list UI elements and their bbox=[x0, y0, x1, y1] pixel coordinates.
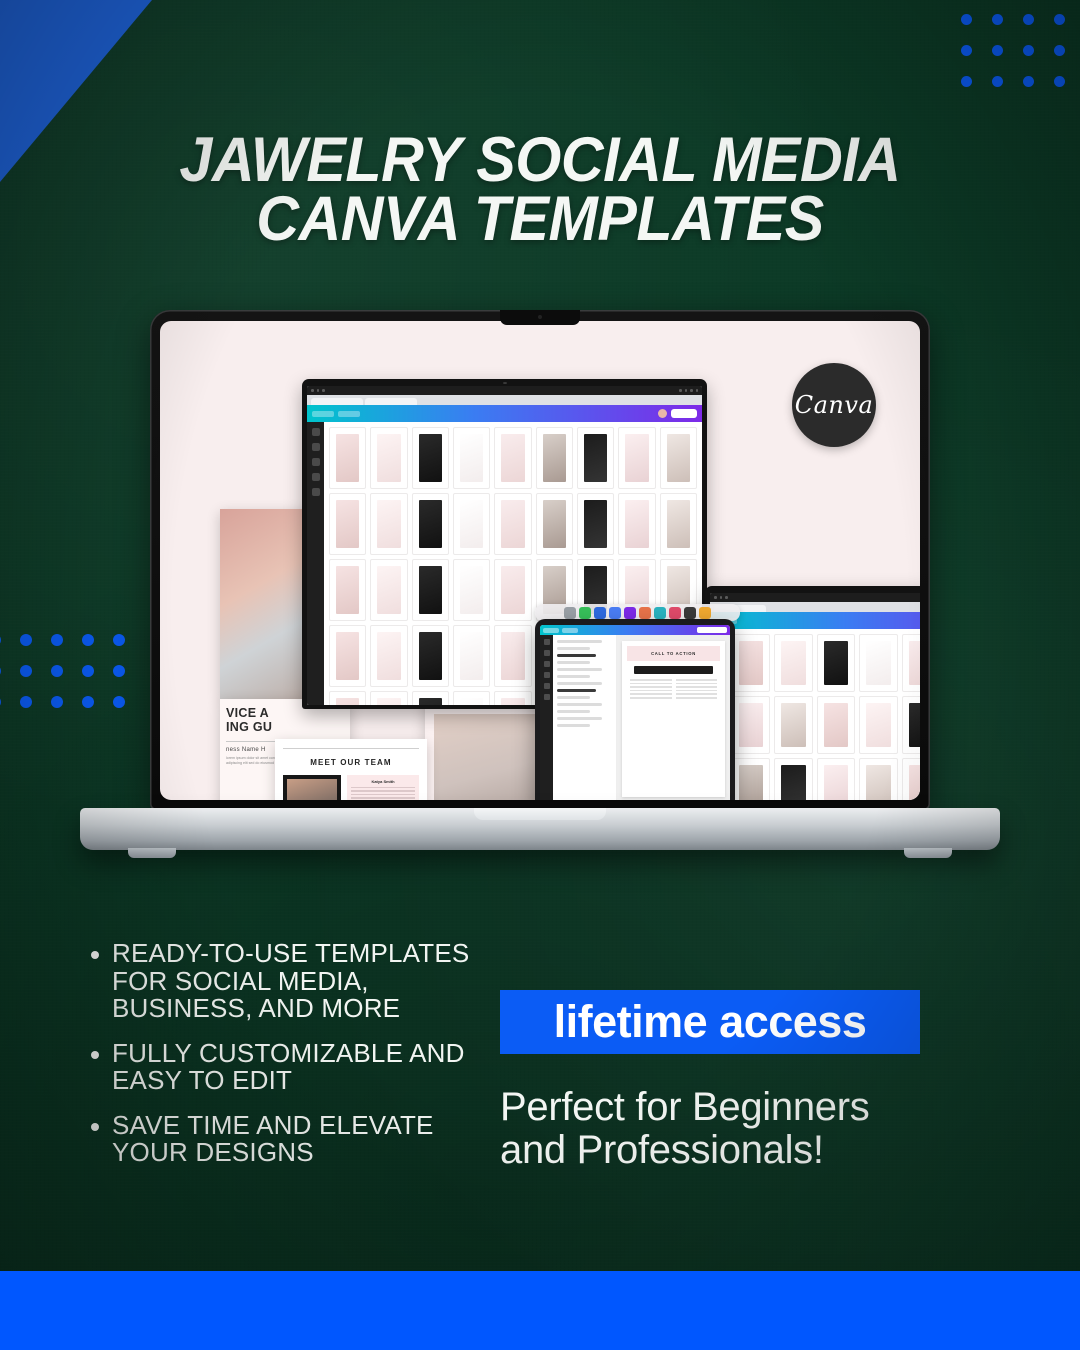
tablet-page: CALL TO ACTION bbox=[622, 641, 725, 797]
template-thumbnail bbox=[577, 427, 614, 489]
canva-window-secondary bbox=[710, 593, 920, 800]
thumbnail-preview bbox=[625, 434, 648, 482]
laptop-foot-left bbox=[128, 848, 176, 858]
template-thumbnail bbox=[494, 493, 531, 555]
thumbnail-preview bbox=[501, 632, 524, 680]
thumbnail-preview bbox=[667, 434, 690, 482]
decorative-dot bbox=[1054, 76, 1065, 87]
meet-team-card: MEET OUR TEAM Andres Doe Katya Smith bbox=[275, 739, 427, 800]
os-menu-bar bbox=[307, 386, 702, 395]
thumbnail-preview bbox=[377, 500, 400, 548]
thumbnail-preview bbox=[336, 632, 359, 680]
template-thumbnail bbox=[774, 634, 812, 692]
template-thumbnail bbox=[536, 493, 573, 555]
dock-app-icon bbox=[594, 607, 606, 619]
thumbnail-preview bbox=[909, 765, 920, 800]
decorative-dot bbox=[51, 665, 63, 677]
template-thumbnail bbox=[660, 427, 697, 489]
template-thumbnail bbox=[412, 625, 449, 687]
template-thumbnail bbox=[859, 634, 897, 692]
template-thumbnail bbox=[329, 427, 366, 489]
thumbnail-preview bbox=[419, 698, 442, 705]
dock-app-icon bbox=[624, 607, 636, 619]
canva-logo-text: Canva bbox=[795, 391, 874, 419]
service-card-heading-2: ING GU bbox=[226, 720, 344, 734]
team-card-columns: Andres Doe Katya Smith bbox=[283, 775, 419, 800]
thumbnail-preview bbox=[667, 500, 690, 548]
decorative-dot bbox=[51, 696, 63, 708]
dock-app-icon bbox=[579, 607, 591, 619]
decorative-dot bbox=[961, 76, 972, 87]
template-thumbnail bbox=[370, 625, 407, 687]
template-thumbnail bbox=[494, 427, 531, 489]
team-member-left: Andres Doe bbox=[283, 775, 341, 800]
decorative-dot bbox=[20, 665, 32, 677]
template-thumbnail bbox=[453, 493, 490, 555]
thumbnail-preview bbox=[866, 641, 890, 685]
thumbnail-preview bbox=[824, 641, 848, 685]
thumbnail-preview bbox=[781, 703, 805, 747]
thumbnail-preview bbox=[336, 500, 359, 548]
template-thumbnail bbox=[494, 625, 531, 687]
decorative-dot bbox=[992, 14, 1003, 25]
dock-app-icon bbox=[564, 607, 576, 619]
template-thumbnail bbox=[902, 696, 920, 754]
camera-notch-icon bbox=[500, 310, 580, 325]
cta-button bbox=[634, 666, 713, 674]
decorative-dot bbox=[0, 634, 1, 646]
thumbnail-preview bbox=[824, 765, 848, 800]
divider bbox=[283, 748, 419, 749]
thumbnail-preview bbox=[584, 500, 607, 548]
thumbnail-preview bbox=[377, 434, 400, 482]
thumbnail-preview bbox=[501, 698, 524, 705]
template-thumbnail bbox=[329, 691, 366, 705]
thumbnail-preview bbox=[460, 434, 483, 482]
template-thumbnail bbox=[412, 493, 449, 555]
bottom-accent-bar bbox=[0, 1271, 1080, 1350]
thumbnail-preview bbox=[377, 566, 400, 614]
laptop-foot-right bbox=[904, 848, 952, 858]
thumbnail-preview bbox=[543, 500, 566, 548]
thumbnail-preview bbox=[584, 434, 607, 482]
browser-tab-bar bbox=[710, 602, 920, 612]
cta-hero: CALL TO ACTION bbox=[627, 646, 720, 661]
cta-heading: CALL TO ACTION bbox=[631, 651, 716, 656]
team-member-right-bio bbox=[351, 787, 415, 800]
feature-bullet-item: Ready-to-use templates for social media,… bbox=[80, 940, 490, 1023]
template-thumbnail bbox=[370, 559, 407, 621]
template-thumbnail-grid bbox=[727, 629, 920, 800]
template-thumbnail bbox=[660, 493, 697, 555]
dock-app-icon bbox=[669, 607, 681, 619]
page-title: JAWELRY SOCIAL MEDIA CANVA TEMPLATES bbox=[32, 131, 1047, 248]
template-thumbnail bbox=[329, 625, 366, 687]
decorative-dot bbox=[992, 45, 1003, 56]
template-thumbnail bbox=[817, 634, 855, 692]
font-list-panel bbox=[553, 635, 617, 800]
share-button bbox=[671, 409, 697, 418]
cta-body-text bbox=[627, 679, 720, 699]
template-thumbnail bbox=[817, 696, 855, 754]
decorative-dot bbox=[51, 634, 63, 646]
template-thumbnail bbox=[902, 758, 920, 800]
thumbnail-preview bbox=[739, 703, 763, 747]
tablet-toolbar bbox=[540, 625, 730, 635]
dock-app-icon bbox=[654, 607, 666, 619]
template-thumbnail bbox=[859, 758, 897, 800]
team-member-left-photo bbox=[287, 779, 337, 800]
decorative-dot bbox=[961, 45, 972, 56]
thumbnail-preview bbox=[460, 632, 483, 680]
thumbnail-preview bbox=[460, 500, 483, 548]
laptop-screen: Canva VICE A ING GU ness Name H lorem ip… bbox=[160, 321, 920, 800]
thumbnail-preview bbox=[824, 703, 848, 747]
thumbnail-preview bbox=[460, 698, 483, 705]
user-avatar bbox=[658, 409, 667, 418]
template-thumbnail bbox=[494, 691, 531, 705]
thumbnail-preview bbox=[543, 434, 566, 482]
laptop-mockup: Canva VICE A ING GU ness Name H lorem ip… bbox=[80, 310, 1000, 870]
template-thumbnail bbox=[618, 427, 655, 489]
decorative-dot bbox=[20, 696, 32, 708]
decorative-dot bbox=[1023, 76, 1034, 87]
dock-app-icon bbox=[699, 607, 711, 619]
dock-app-icon bbox=[609, 607, 621, 619]
canva-body bbox=[710, 629, 920, 800]
template-thumbnail bbox=[370, 691, 407, 705]
thumbnail-preview bbox=[781, 641, 805, 685]
laptop-lid: Canva VICE A ING GU ness Name H lorem ip… bbox=[150, 310, 930, 810]
thumbnail-preview bbox=[909, 641, 920, 685]
decorative-dot bbox=[1023, 14, 1034, 25]
decorative-dot bbox=[992, 76, 1003, 87]
thumbnail-preview bbox=[377, 632, 400, 680]
dock-app-icon bbox=[639, 607, 651, 619]
template-thumbnail bbox=[329, 493, 366, 555]
thumbnail-preview bbox=[377, 698, 400, 705]
thumbnail-preview bbox=[501, 566, 524, 614]
canva-toolbar bbox=[710, 612, 920, 629]
thumbnail-preview bbox=[419, 632, 442, 680]
thumbnail-preview bbox=[336, 566, 359, 614]
canva-toolbar bbox=[307, 405, 702, 422]
thumbnail-preview bbox=[866, 765, 890, 800]
thumbnail-preview bbox=[336, 434, 359, 482]
template-thumbnail bbox=[370, 427, 407, 489]
template-thumbnail bbox=[577, 493, 614, 555]
dot-grid-top-right bbox=[961, 14, 1080, 107]
promo-poster: JAWELRY SOCIAL MEDIA CANVA TEMPLATES Can… bbox=[0, 0, 1080, 1350]
tagline-line-1: Perfect for Beginners bbox=[500, 1086, 970, 1129]
thumbnail-preview bbox=[739, 765, 763, 800]
team-card-heading: MEET OUR TEAM bbox=[283, 758, 419, 767]
template-thumbnail bbox=[732, 758, 770, 800]
feature-bullet-list: Ready-to-use templates for social media,… bbox=[80, 940, 490, 1184]
thumbnail-preview bbox=[501, 500, 524, 548]
title-line-1: JAWELRY SOCIAL MEDIA bbox=[32, 131, 1047, 190]
tablet-screen: CALL TO ACTION bbox=[540, 625, 730, 800]
template-thumbnail bbox=[329, 559, 366, 621]
team-member-right-name: Katya Smith bbox=[351, 779, 415, 784]
laptop-base bbox=[80, 808, 1000, 850]
decorative-dot bbox=[961, 14, 972, 25]
template-thumbnail bbox=[859, 696, 897, 754]
decorative-dot bbox=[20, 634, 32, 646]
template-thumbnail bbox=[453, 625, 490, 687]
canva-logo-badge: Canva bbox=[792, 363, 876, 447]
title-line-2: CANVA TEMPLATES bbox=[32, 190, 1047, 249]
template-thumbnail bbox=[412, 427, 449, 489]
thumbnail-preview bbox=[419, 566, 442, 614]
template-thumbnail bbox=[536, 427, 573, 489]
decorative-dot bbox=[0, 696, 1, 708]
tablet-sidebar bbox=[540, 635, 553, 800]
template-thumbnail bbox=[412, 559, 449, 621]
template-thumbnail bbox=[774, 758, 812, 800]
template-thumbnail bbox=[370, 493, 407, 555]
tagline-line-2: and Professionals! bbox=[500, 1129, 970, 1172]
thumbnail-preview bbox=[501, 434, 524, 482]
thumbnail-preview bbox=[866, 703, 890, 747]
template-thumbnail bbox=[453, 691, 490, 705]
tablet-mockup: CALL TO ACTION bbox=[535, 619, 735, 800]
template-thumbnail bbox=[618, 493, 655, 555]
lifetime-access-badge: lifetime access bbox=[500, 990, 920, 1054]
template-thumbnail bbox=[412, 691, 449, 705]
dock-app-icon bbox=[684, 607, 696, 619]
thumbnail-preview bbox=[419, 500, 442, 548]
canva-sidebar bbox=[307, 422, 324, 705]
browser-tab-bar bbox=[307, 395, 702, 405]
template-thumbnail bbox=[774, 696, 812, 754]
template-thumbnail bbox=[817, 758, 855, 800]
template-thumbnail bbox=[453, 427, 490, 489]
template-thumbnail bbox=[732, 634, 770, 692]
template-thumbnail bbox=[732, 696, 770, 754]
feature-bullet-item: Fully customizable and easy to edit bbox=[80, 1040, 490, 1095]
thumbnail-preview bbox=[419, 434, 442, 482]
tablet-body: CALL TO ACTION bbox=[540, 635, 730, 800]
thumbnail-preview bbox=[781, 765, 805, 800]
os-menu-bar bbox=[710, 593, 920, 602]
template-thumbnail bbox=[494, 559, 531, 621]
decorative-dot bbox=[1023, 45, 1034, 56]
thumbnail-preview bbox=[739, 641, 763, 685]
thumbnail-preview bbox=[909, 703, 920, 747]
tablet-share-button bbox=[697, 627, 727, 633]
thumbnail-preview bbox=[460, 566, 483, 614]
lifetime-access-label: lifetime access bbox=[554, 996, 867, 1048]
decorative-dot bbox=[1054, 45, 1065, 56]
tagline: Perfect for Beginners and Professionals! bbox=[500, 1086, 970, 1172]
team-member-right: Katya Smith bbox=[347, 775, 419, 800]
decorative-dot bbox=[0, 665, 1, 677]
tablet-canvas: CALL TO ACTION bbox=[617, 635, 730, 800]
feature-bullet-item: Save time and elevate your designs bbox=[80, 1112, 490, 1167]
template-thumbnail bbox=[902, 634, 920, 692]
template-thumbnail bbox=[453, 559, 490, 621]
thumbnail-preview bbox=[625, 500, 648, 548]
thumbnail-preview bbox=[336, 698, 359, 705]
decorative-dot bbox=[1054, 14, 1065, 25]
